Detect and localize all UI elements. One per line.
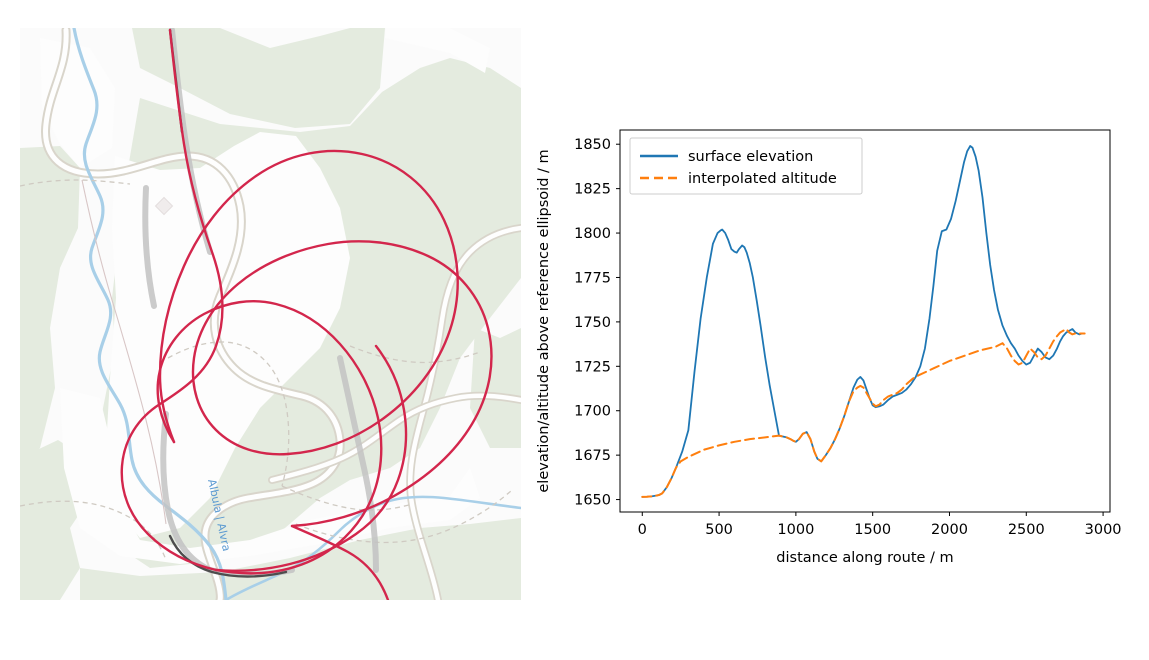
- chart-legend[interactable]: surface elevation interpolated altitude: [630, 138, 862, 194]
- y-tick-label: 1800: [574, 226, 611, 242]
- x-tick-label: 1500: [854, 522, 891, 538]
- legend-label-interpolated-altitude: interpolated altitude: [688, 171, 837, 187]
- y-tick-label: 1675: [574, 448, 611, 464]
- chart-canvas[interactable]: 050010001500200025003000 165016751700172…: [530, 110, 1140, 570]
- y-axis-ticks: 165016751700172517501775180018251850: [574, 137, 620, 508]
- x-tick-label: 2500: [1008, 522, 1045, 538]
- y-tick-label: 1775: [574, 270, 611, 286]
- y-tick-label: 1700: [574, 404, 611, 420]
- y-tick-label: 1650: [574, 493, 611, 509]
- y-axis-label: elevation/altitude above reference ellip…: [536, 149, 552, 492]
- x-axis-label: distance along route / m: [776, 550, 953, 566]
- x-tick-label: 3000: [1085, 522, 1122, 538]
- x-tick-label: 500: [705, 522, 733, 538]
- x-tick-label: 0: [638, 522, 647, 538]
- x-tick-label: 2000: [931, 522, 968, 538]
- y-tick-label: 1825: [574, 182, 611, 198]
- legend-label-surface-elevation: surface elevation: [688, 149, 813, 165]
- y-tick-label: 1850: [574, 137, 611, 153]
- x-tick-label: 1000: [777, 522, 814, 538]
- y-tick-label: 1750: [574, 315, 611, 331]
- y-tick-label: 1725: [574, 359, 611, 375]
- elevation-profile-chart[interactable]: 050010001500200025003000 165016751700172…: [530, 110, 1140, 570]
- map-panel[interactable]: Albula | Alvra: [20, 28, 521, 600]
- map-canvas[interactable]: Albula | Alvra: [20, 28, 521, 600]
- x-axis-ticks: 050010001500200025003000: [638, 512, 1122, 538]
